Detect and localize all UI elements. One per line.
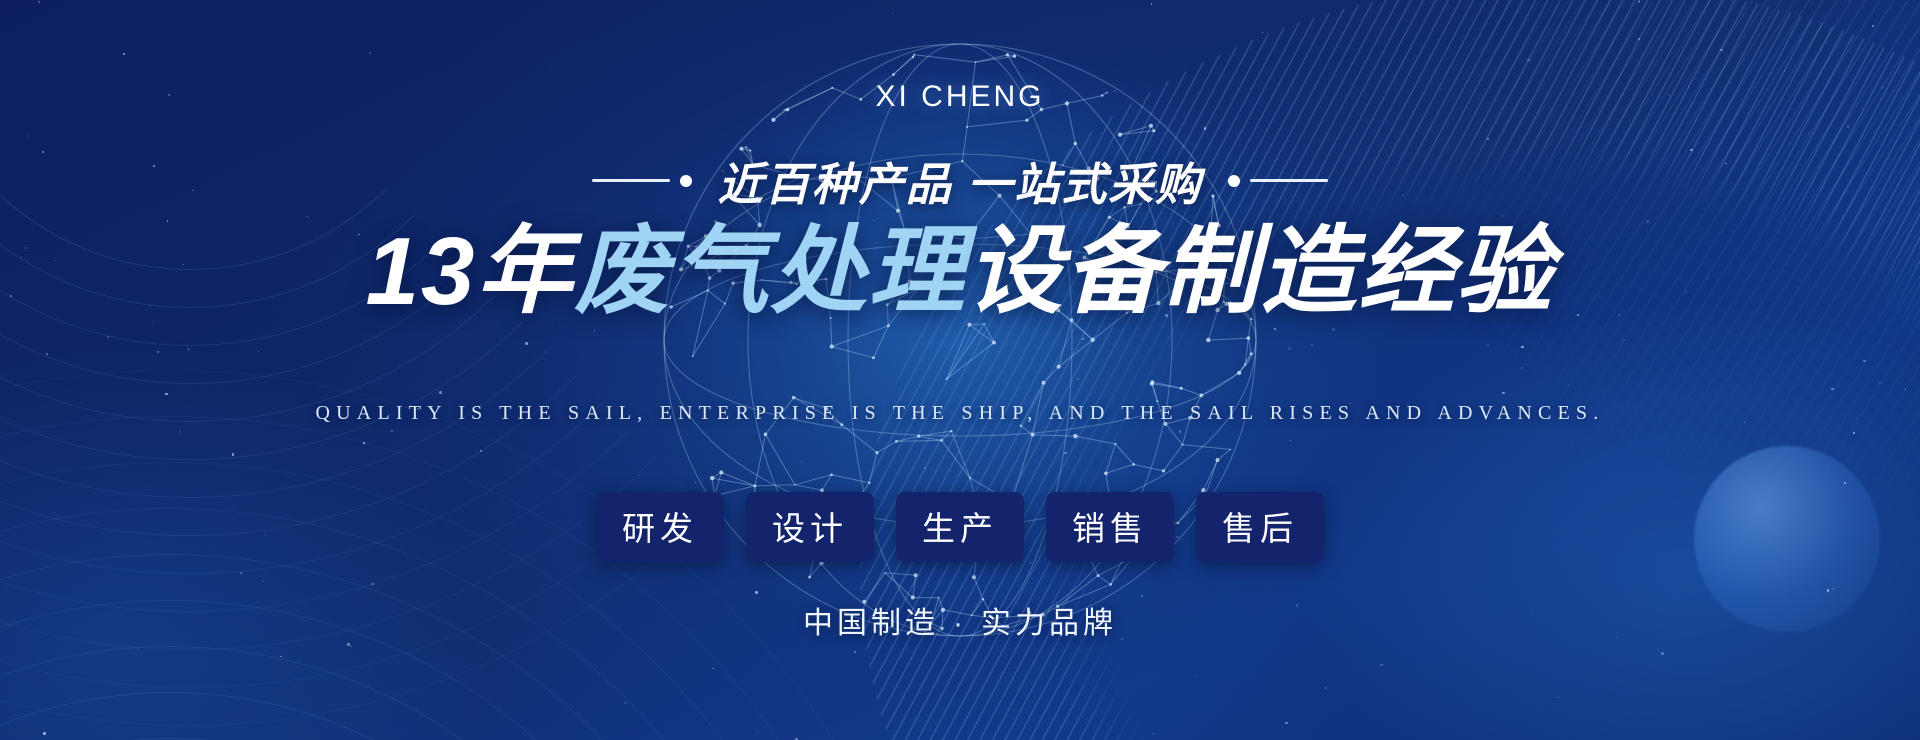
ornament-line-right bbox=[1228, 175, 1328, 187]
english-tagline: QUALITY IS THE SAIL, ENTERPRISE IS THE S… bbox=[0, 402, 1920, 425]
service-badge[interactable]: 销售 bbox=[1046, 492, 1174, 562]
footer-slogan-left: 中国制造 bbox=[803, 607, 939, 640]
banner-subtitle: 近百种产品 一站式采购 bbox=[718, 148, 1203, 213]
footer-separator: · bbox=[939, 607, 981, 640]
subtitle-row: 近百种产品 一站式采购 bbox=[0, 148, 1920, 213]
headline-part-years: 13年 bbox=[366, 218, 575, 325]
footer-slogan: 中国制造·实力品牌 bbox=[0, 598, 1920, 642]
ornament-line-segment bbox=[592, 179, 670, 182]
brand-name: XI CHENG bbox=[0, 80, 1920, 114]
service-badge-row: 研发设计生产销售售后 bbox=[0, 492, 1920, 562]
hero-banner: XI CHENG 近百种产品 一站式采购 13年废气处理设备制造经验 QUALI… bbox=[0, 0, 1920, 740]
headline-part-highlight: 废气处理 bbox=[574, 218, 966, 325]
banner-content: XI CHENG 近百种产品 一站式采购 13年废气处理设备制造经验 QUALI… bbox=[0, 0, 1920, 740]
ornament-dot bbox=[680, 175, 692, 187]
headline-part-tail: 设备制造经验 bbox=[966, 218, 1554, 325]
service-badge[interactable]: 研发 bbox=[596, 492, 724, 562]
service-badge[interactable]: 生产 bbox=[896, 492, 1024, 562]
ornament-line-left bbox=[592, 175, 692, 187]
ornament-line-segment bbox=[1250, 179, 1328, 182]
service-badge[interactable]: 售后 bbox=[1196, 492, 1324, 562]
footer-slogan-right: 实力品牌 bbox=[981, 607, 1117, 640]
headline: 13年废气处理设备制造经验 bbox=[0, 215, 1920, 328]
ornament-dot bbox=[1228, 175, 1240, 187]
service-badge[interactable]: 设计 bbox=[746, 492, 874, 562]
